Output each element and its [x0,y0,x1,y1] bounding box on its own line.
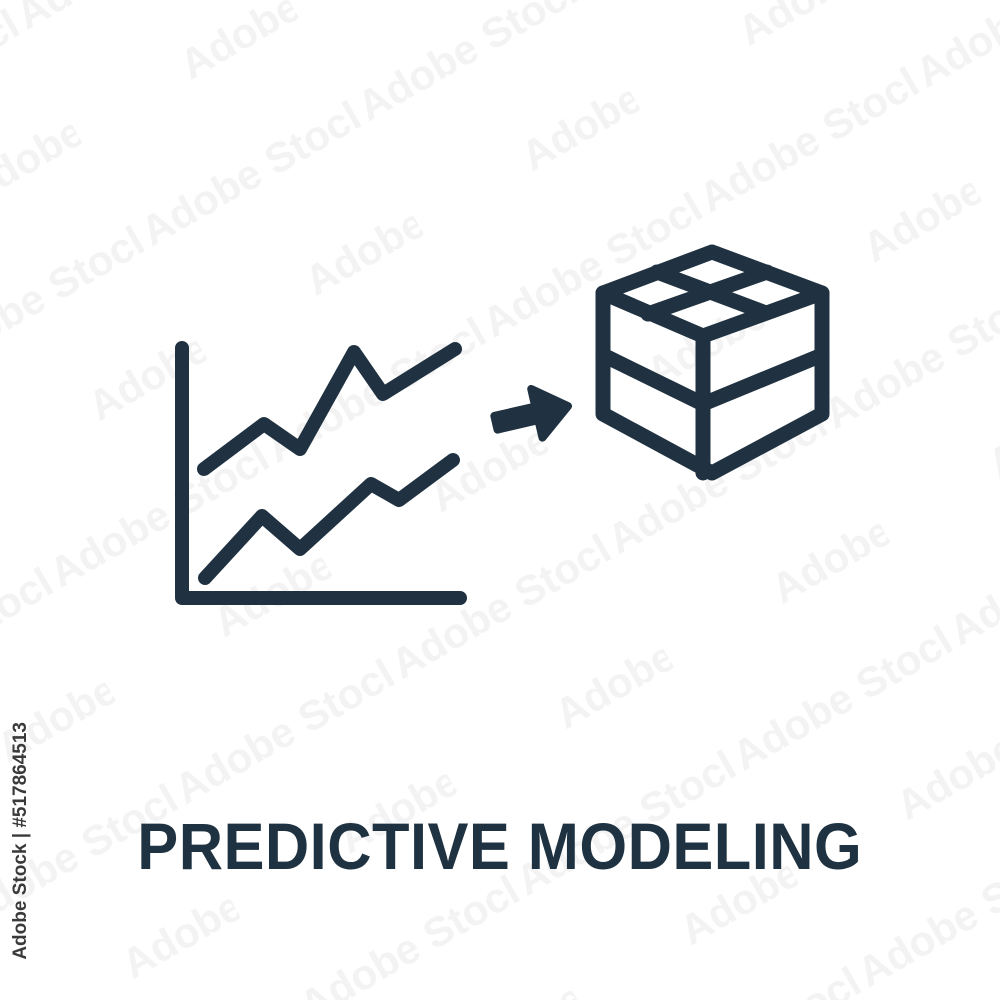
cube-left-division [603,355,703,404]
isometric-cube-icon [603,252,822,473]
icon-caption: PREDICTIVE MODELING [0,806,1000,886]
icon-canvas: Adobe Stock Adobe Stock [0,0,1000,1000]
lower-trend-line [205,460,453,578]
page-title: PREDICTIVE MODELING [138,806,863,886]
side-credit-watermark: Adobe Stock | #517864513 [10,722,32,960]
line-chart-glyph [182,348,460,598]
arrow-shape [490,382,573,447]
cube-right-division [703,355,822,404]
flow-arrow-icon [490,382,573,447]
upper-trend-line [204,349,455,469]
